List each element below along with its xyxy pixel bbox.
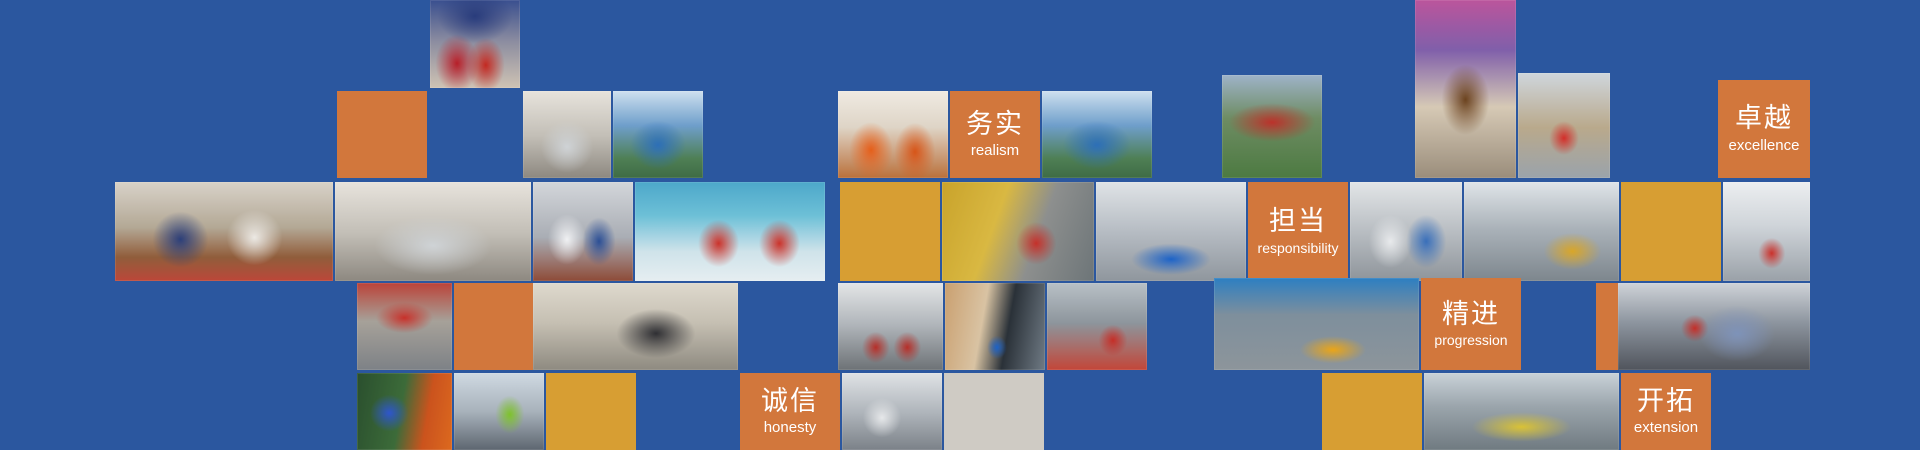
photo-outdoor-blue-team [1042, 91, 1152, 178]
photo-massage-service [454, 373, 544, 450]
value-honesty: 诚信honesty [740, 373, 840, 450]
value-label-en: excellence [1729, 138, 1800, 154]
photo-factory-yellow [942, 182, 1094, 281]
value-label-cn: 卓越 [1735, 104, 1793, 132]
photo-award-plaque [1415, 0, 1516, 178]
photo-teamrow-yellow [1214, 278, 1419, 370]
value-label-cn: 精进 [1442, 300, 1500, 328]
value-label-en: extension [1634, 420, 1698, 436]
photo-selfie-woman [1618, 283, 1810, 370]
filler-gold-r4c6 [546, 373, 636, 450]
filler-orange-r1c3 [337, 91, 427, 178]
photo-diploma-award [1723, 182, 1810, 281]
photo-blue-bags [1096, 182, 1246, 281]
photo-classroom-smile [533, 283, 738, 370]
photo-worker-gift [1047, 283, 1147, 370]
value-label-en: responsibility [1258, 241, 1339, 256]
value-extension: 开拓extension [1621, 373, 1711, 450]
value-responsibility: 担当responsibility [1248, 182, 1348, 281]
value-label-en: progression [1434, 333, 1507, 348]
photo-workshop-line [1464, 182, 1619, 281]
photo-warehouse-bag [1518, 73, 1610, 178]
filler-orange-r3c5 [454, 283, 544, 370]
photo-shelf-goods [357, 283, 452, 370]
photo-outdoor-training [613, 91, 703, 178]
filler-gold-r4c13 [1322, 373, 1422, 450]
photo-handing-bag [945, 283, 1045, 370]
photo-office-desk [842, 373, 942, 450]
photo-orange-party [838, 91, 948, 178]
photo-field-lineup [1222, 75, 1322, 178]
photo-drone-formation [357, 373, 452, 450]
photo-lion-dance [523, 91, 611, 178]
value-label-cn: 担当 [1269, 207, 1327, 235]
photo-lobby-group [335, 182, 531, 281]
filler-gold-r2c18 [1621, 182, 1721, 281]
value-label-en: honesty [764, 420, 817, 436]
value-label-cn: 务实 [966, 110, 1024, 138]
value-progression: 精进progression [1421, 278, 1521, 370]
photo-pushup [533, 182, 633, 281]
value-label-en: realism [971, 143, 1019, 159]
value-realism: 务实realism [950, 91, 1040, 178]
value-label-cn: 开拓 [1637, 387, 1695, 415]
value-label-cn: 诚信 [761, 387, 819, 415]
values-photo-mosaic: 务实realism卓越excellence担当responsibility精进p… [0, 0, 1920, 450]
value-excellence: 卓越excellence [1718, 80, 1810, 178]
photo-dragonboat-banner [635, 182, 825, 281]
photo-handshake [1350, 182, 1462, 281]
photo-team-red-gifts [430, 0, 520, 88]
filler-gold-r2c9 [840, 182, 940, 281]
photo-packing-line [1424, 373, 1619, 450]
photo-tea-ceremony [115, 182, 333, 281]
filler-grey-r4c10 [944, 373, 1044, 450]
photo-gift-pair [838, 283, 943, 370]
